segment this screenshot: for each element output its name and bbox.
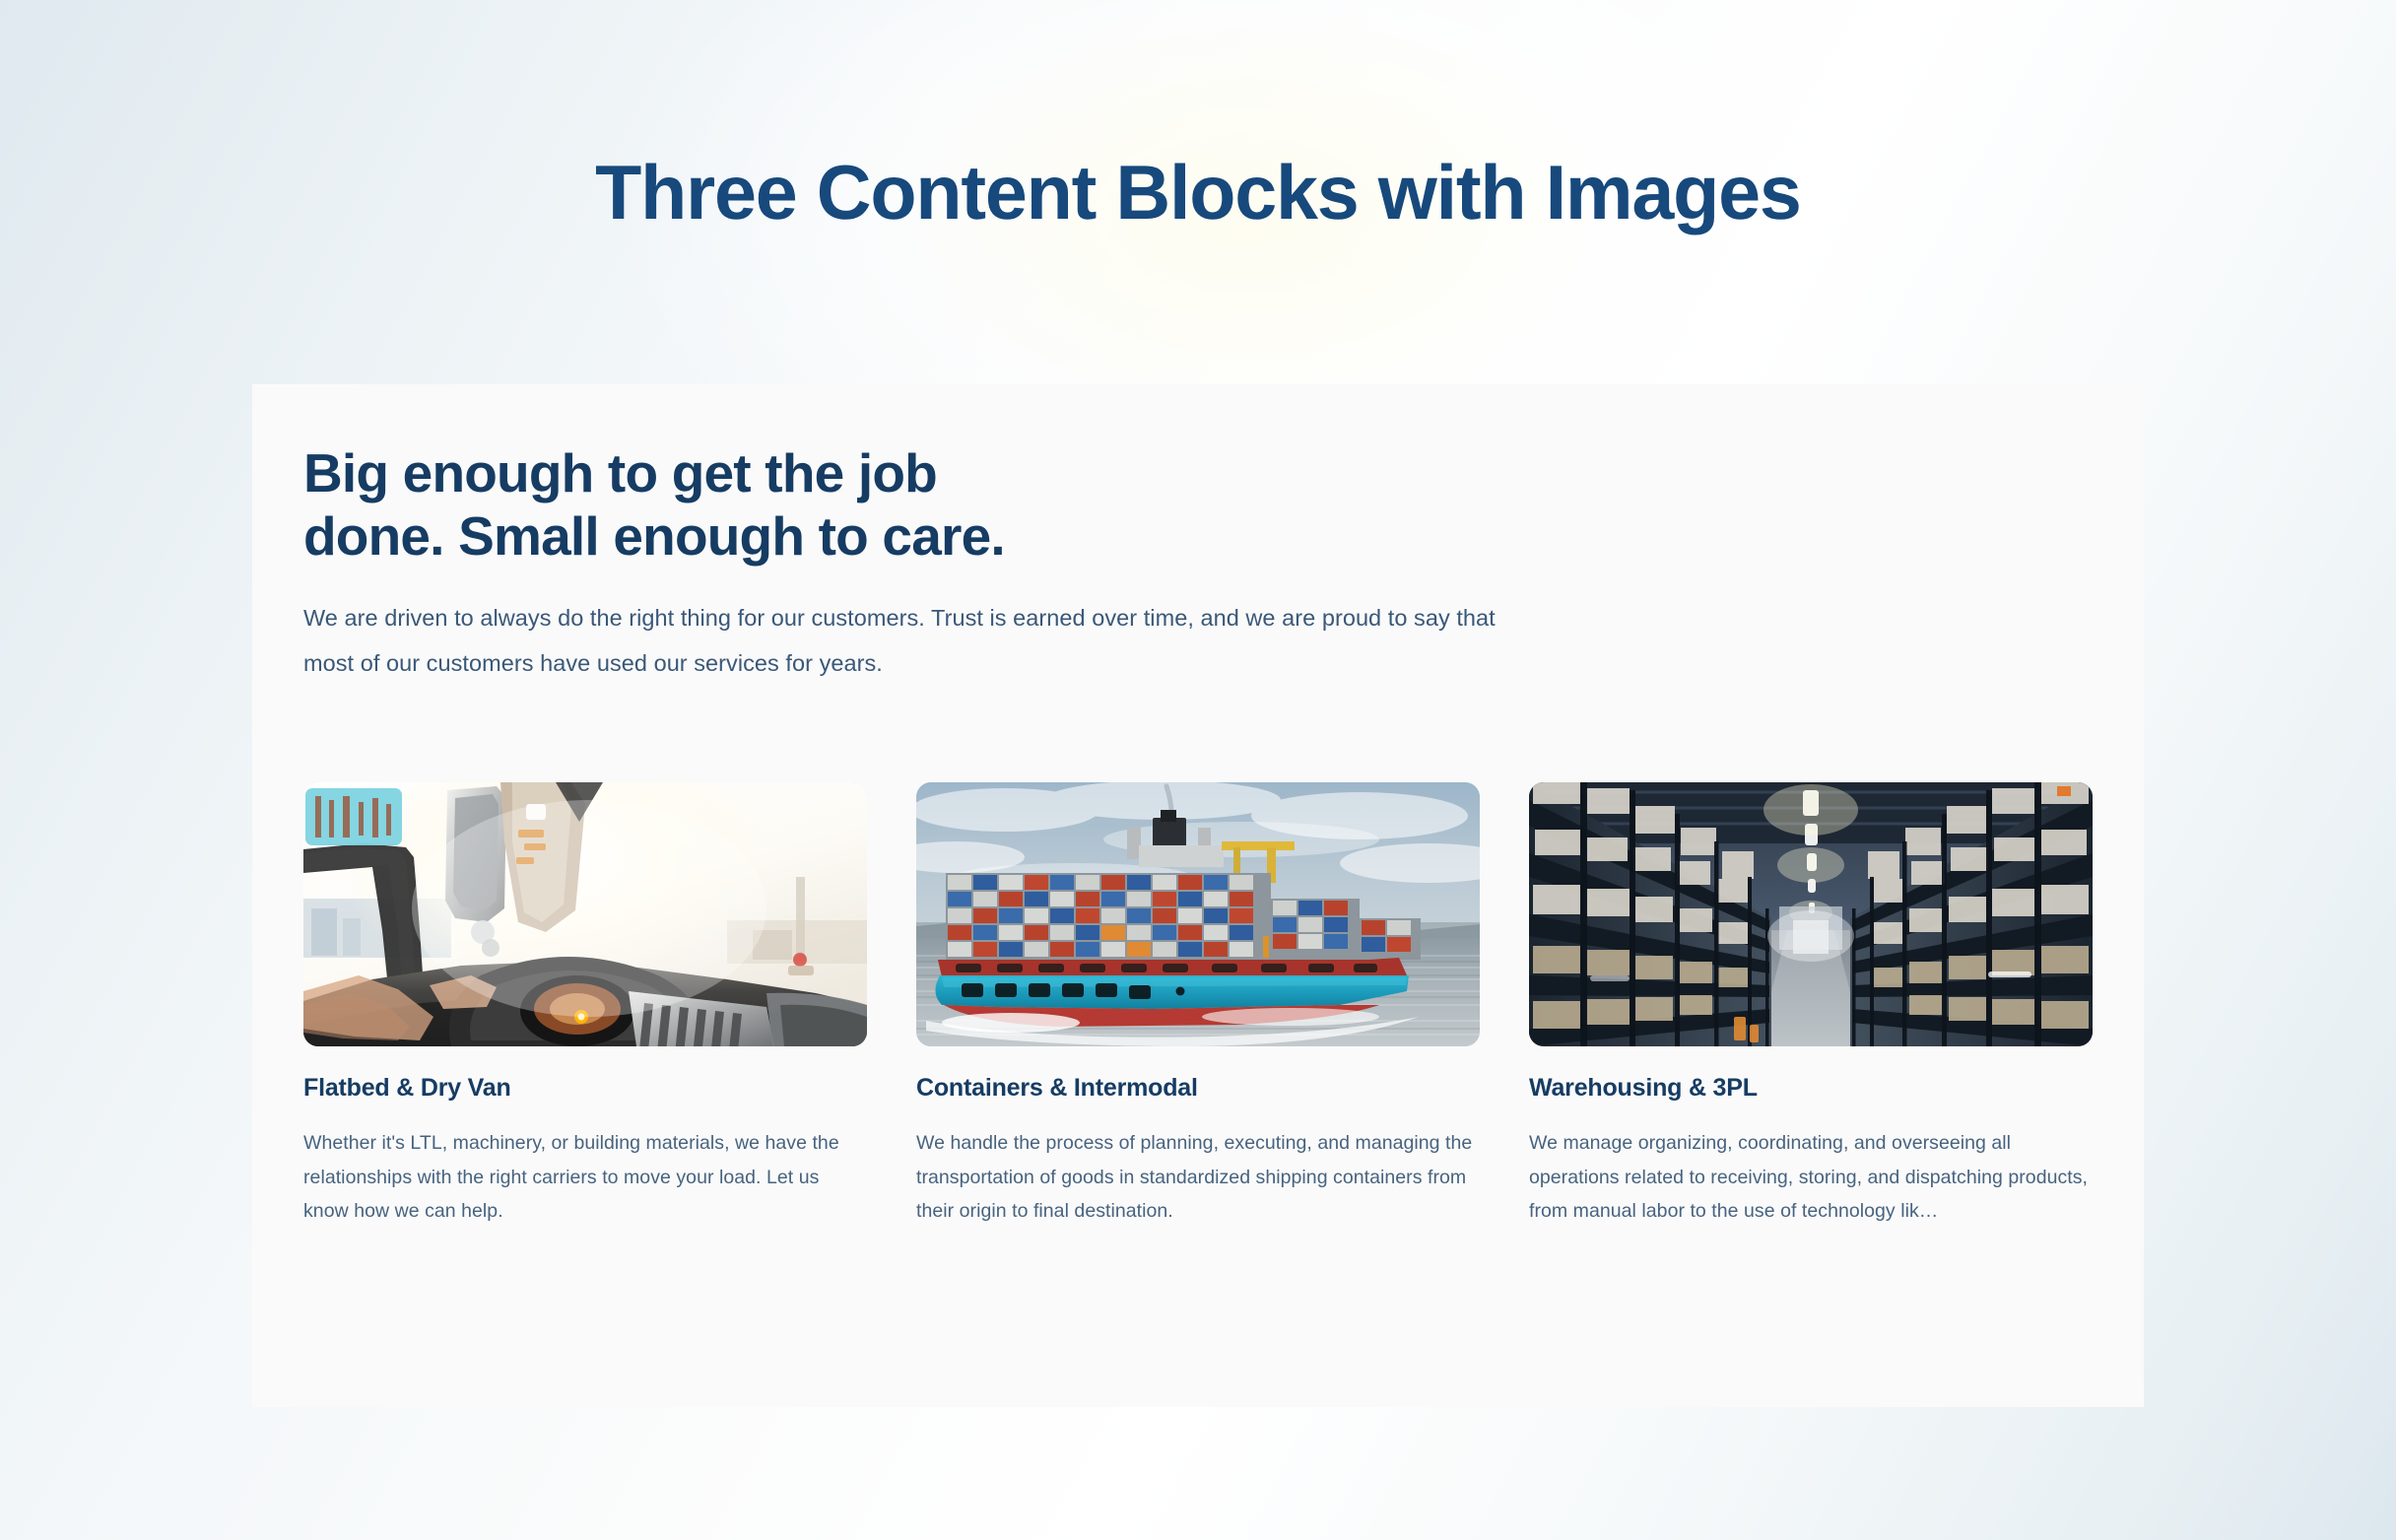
page-title: Three Content Blocks with Images <box>595 148 1800 237</box>
page-title-region: Three Content Blocks with Images <box>0 0 2396 384</box>
truck-cab-interior-photo <box>303 782 867 1046</box>
container-ship-photo <box>916 782 1480 1046</box>
card-title: Warehousing & 3PL <box>1529 1074 2093 1103</box>
warehouse-aisle-photo <box>1529 782 2093 1046</box>
intro-heading-line-1: Big enough to get the job <box>303 442 937 503</box>
content-panel: Big enough to get the job done. Small en… <box>252 384 2144 1407</box>
card-description: We manage organizing, coordinating, and … <box>1529 1126 2093 1229</box>
card-title: Containers & Intermodal <box>916 1074 1480 1103</box>
intro-heading-line-2: done. Small enough to care. <box>303 505 1005 567</box>
card-title: Flatbed & Dry Van <box>303 1074 867 1103</box>
content-block-warehousing-3pl[interactable]: Warehousing & 3PL We manage organizing, … <box>1529 782 2093 1229</box>
intro-heading: Big enough to get the job done. Small en… <box>303 441 1121 569</box>
content-blocks-row: Flatbed & Dry Van Whether it's LTL, mach… <box>303 782 2093 1229</box>
card-description: Whether it's LTL, machinery, or building… <box>303 1126 867 1229</box>
intro-block: Big enough to get the job done. Small en… <box>303 441 1584 686</box>
content-block-containers-intermodal[interactable]: Containers & Intermodal We handle the pr… <box>916 782 1480 1229</box>
card-description: We handle the process of planning, execu… <box>916 1126 1480 1229</box>
content-block-flatbed-dry-van[interactable]: Flatbed & Dry Van Whether it's LTL, mach… <box>303 782 867 1229</box>
intro-paragraph: We are driven to always do the right thi… <box>303 596 1515 687</box>
content-panel-inner: Big enough to get the job done. Small en… <box>303 384 2093 1407</box>
